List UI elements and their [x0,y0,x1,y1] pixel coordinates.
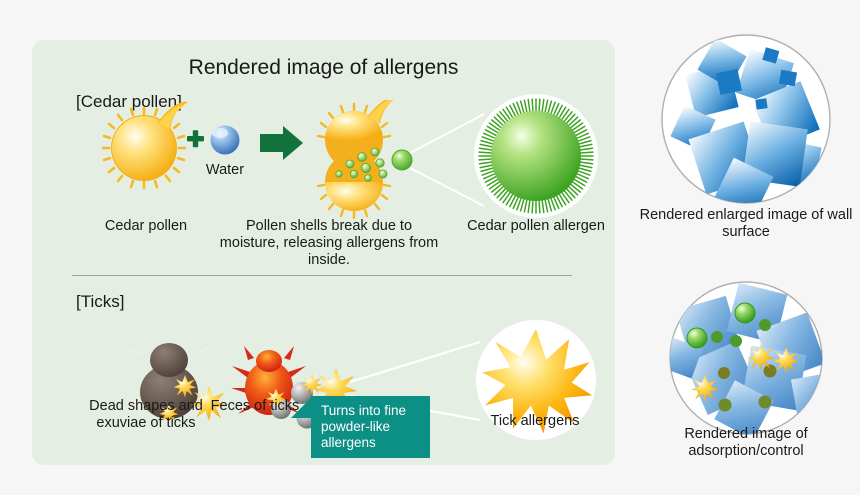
callout-text: Turns into fine powder-like allergens [321,403,425,451]
caption-cedar-allergen: Cedar pollen allergen [466,218,606,235]
cedar-allergen-magnified-icon [470,92,602,224]
callout-powder-allergens: Turns into fine powder-like allergens [311,396,430,458]
caption-wall-surface: Rendered enlarged image of wall surface [636,207,856,241]
infographic-root: Rendered image of allergens [Cedar polle… [0,0,860,495]
page-title: Rendered image of allergens [32,56,615,80]
right-arrow-icon [260,126,303,160]
caption-pollen-break: Pollen shells break due to moisture, rel… [215,218,443,269]
plus-icon [187,130,204,147]
caption-dead-ticks: Dead shapes and exuviae of ticks [80,398,212,432]
water-droplet-icon [211,126,240,155]
caption-tick-allergens: Tick allergens [460,413,610,430]
callout-tail [291,398,311,418]
wall-surface-circle-image [660,33,832,205]
caption-adsorption: Rendered image of adsorption/control [636,426,856,460]
green-allergen-sphere-icon [392,150,412,170]
water-label: Water [206,162,244,178]
adsorption-circle-image [660,280,832,438]
section-label-ticks: [Ticks] [76,292,124,312]
cedar-pollen-grain-icon [103,102,188,188]
caption-cedar-pollen: Cedar pollen [86,218,206,235]
section-divider [72,275,572,276]
caption-feces-of-ticks: Feces of ticks [210,398,300,415]
